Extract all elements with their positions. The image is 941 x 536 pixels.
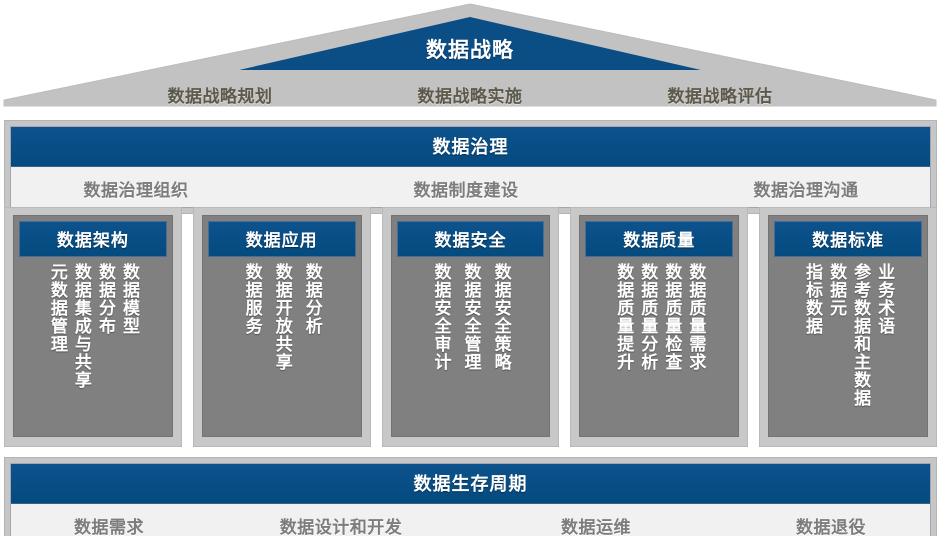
pillar-item[interactable]: 数据分析 (297, 263, 327, 335)
pillar-item[interactable]: 数据质量分析 (635, 263, 659, 371)
pillar-title: 数据安全 (397, 221, 545, 257)
pillar-item[interactable]: 数据集成与共享 (69, 263, 93, 389)
pillar-item[interactable]: 数据安全审计 (425, 263, 455, 371)
governance-sub-1[interactable]: 数据制度建设 (351, 176, 581, 201)
roof-sub-2: 数据战略评估 (620, 82, 820, 107)
lifecycle-sub-1[interactable]: 数据设计和开发 (226, 513, 456, 536)
pillar-row: 数据架构 数据模型 数据分布 数据集成与共享 元数据管理 数据应用 数据分析 数… (4, 207, 937, 447)
pillar-body: 数据架构 数据模型 数据分布 数据集成与共享 元数据管理 (13, 215, 173, 437)
roof-sub-0: 数据战略规划 (120, 82, 320, 107)
pillar-data-quality[interactable]: 数据质量 数据质量需求 数据质量检查 数据质量分析 数据质量提升 (570, 207, 748, 447)
pillar-title: 数据标准 (774, 221, 922, 257)
roof-pediment: 数据战略 数据战略规划 数据战略实施 数据战略评估 (0, 0, 941, 108)
pillar-items: 数据安全策略 数据安全管理 数据安全审计 (397, 257, 545, 430)
pillar-data-security[interactable]: 数据安全 数据安全策略 数据安全管理 数据安全审计 (382, 207, 560, 447)
pillar-item[interactable]: 业务术语 (872, 263, 896, 335)
pillar-item[interactable]: 数据安全策略 (486, 263, 516, 371)
pillar-body: 数据质量 数据质量需求 数据质量检查 数据质量分析 数据质量提升 (579, 215, 739, 437)
pillar-title: 数据质量 (585, 221, 733, 257)
pillar-item[interactable]: 数据模型 (117, 263, 141, 335)
pillar-data-standard[interactable]: 数据标准 业务术语 参考数据和主数据 数据元 指标数据 (759, 207, 937, 447)
pillar-item[interactable]: 数据服务 (237, 263, 267, 335)
governance-subitems: 数据治理组织 数据制度建设 数据治理沟通 (11, 167, 930, 207)
pillar-data-application[interactable]: 数据应用 数据分析 数据开放共享 数据服务 (193, 207, 371, 447)
lifecycle-band-inner: 数据生存周期 数据需求 数据设计和开发 数据运维 数据退役 (10, 463, 931, 536)
lifecycle-band: 数据生存周期 数据需求 数据设计和开发 数据运维 数据退役 (4, 457, 937, 536)
governance-title: 数据治理 (11, 127, 930, 167)
diagram-canvas: 数据战略 数据战略规划 数据战略实施 数据战略评估 数据治理 数据治理组织 数据… (0, 0, 941, 536)
governance-sub-2[interactable]: 数据治理沟通 (691, 176, 921, 201)
pillar-item[interactable]: 数据质量需求 (683, 263, 707, 371)
pillar-items: 业务术语 参考数据和主数据 数据元 指标数据 (774, 257, 922, 430)
lifecycle-sub-0[interactable]: 数据需求 (19, 513, 199, 536)
pillar-item[interactable]: 数据开放共享 (267, 263, 297, 371)
lifecycle-title: 数据生存周期 (11, 464, 930, 504)
pillar-item[interactable]: 数据安全管理 (455, 263, 485, 371)
pillar-item[interactable]: 数据元 (824, 263, 848, 317)
pillar-title: 数据应用 (208, 221, 356, 257)
lifecycle-sub-3[interactable]: 数据退役 (736, 513, 926, 536)
governance-band-inner: 数据治理 数据治理组织 数据制度建设 数据治理沟通 (10, 126, 931, 208)
pillar-item[interactable]: 参考数据和主数据 (848, 263, 872, 407)
pillar-title: 数据架构 (19, 221, 167, 257)
roof-title: 数据战略 (240, 34, 700, 64)
pillar-body: 数据应用 数据分析 数据开放共享 数据服务 (202, 215, 362, 437)
lifecycle-sub-2[interactable]: 数据运维 (501, 513, 691, 536)
pillar-body: 数据安全 数据安全策略 数据安全管理 数据安全审计 (391, 215, 551, 437)
governance-band: 数据治理 数据治理组织 数据制度建设 数据治理沟通 (4, 120, 937, 214)
pillar-data-architecture[interactable]: 数据架构 数据模型 数据分布 数据集成与共享 元数据管理 (4, 207, 182, 447)
pillar-item[interactable]: 指标数据 (800, 263, 824, 335)
pillar-body: 数据标准 业务术语 参考数据和主数据 数据元 指标数据 (768, 215, 928, 437)
pillar-items: 数据质量需求 数据质量检查 数据质量分析 数据质量提升 (585, 257, 733, 430)
pillar-items: 数据分析 数据开放共享 数据服务 (208, 257, 356, 430)
pillar-item[interactable]: 元数据管理 (45, 263, 69, 353)
pillar-item[interactable]: 数据质量提升 (611, 263, 635, 371)
governance-sub-0[interactable]: 数据治理组织 (21, 176, 251, 201)
pillar-item[interactable]: 数据质量检查 (659, 263, 683, 371)
pillar-item[interactable]: 数据分布 (93, 263, 117, 335)
roof-sub-1: 数据战略实施 (370, 82, 570, 107)
lifecycle-subitems: 数据需求 数据设计和开发 数据运维 数据退役 (11, 504, 930, 536)
pillar-items: 数据模型 数据分布 数据集成与共享 元数据管理 (19, 257, 167, 430)
